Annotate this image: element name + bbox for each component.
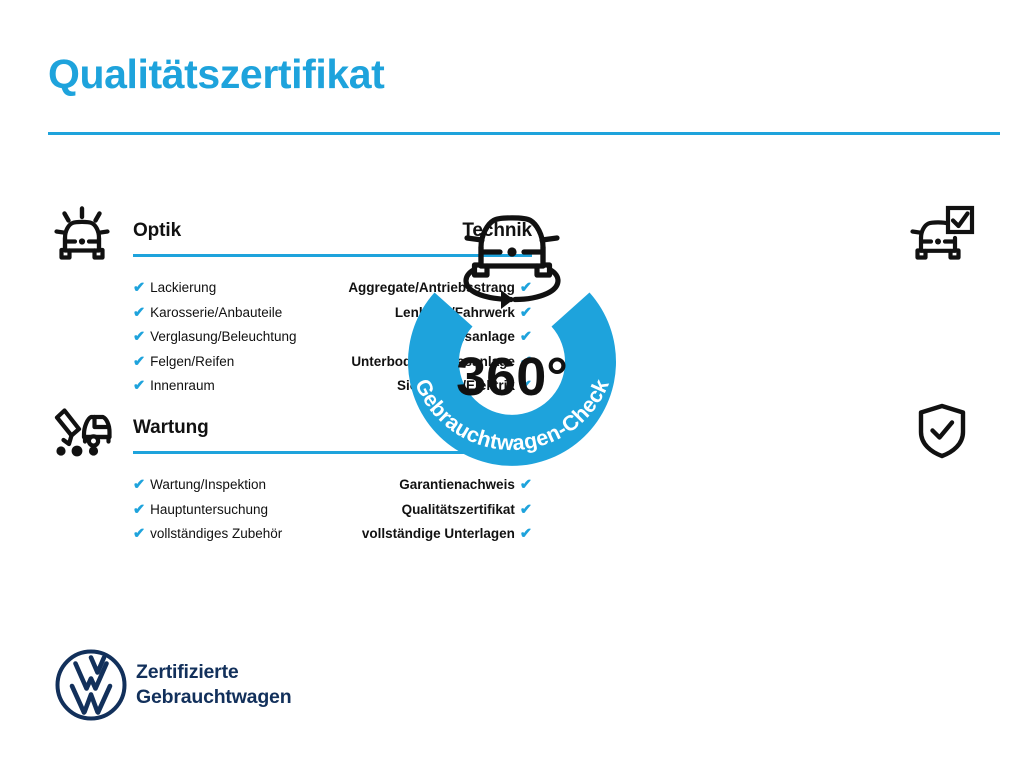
check-icon: ✔	[133, 305, 145, 321]
vw-wordmark-line1: Zertifizierte	[136, 660, 291, 685]
section-heading-optik: Optik	[133, 220, 181, 242]
list-item-label: Karosserie/Anbauteile	[150, 305, 282, 320]
checklist-optik: ✔Lackierung ✔Karosserie/Anbauteile ✔Verg…	[133, 276, 297, 399]
list-item: Qualitätszertifikat✔	[284, 498, 532, 523]
list-item-label: Hauptuntersuchung	[150, 502, 268, 517]
check-icon: ✔	[133, 329, 145, 345]
check-icon: ✔	[133, 378, 145, 394]
list-item: ✔vollständiges Zubehör	[133, 522, 282, 547]
check-icon: ✔	[133, 477, 145, 493]
check-icon: ✔	[520, 526, 532, 542]
checklist-garantie: Garantienachweis✔ Qualitätszertifikat✔ v…	[284, 473, 532, 547]
vw-logo	[54, 648, 128, 722]
car-checkbox-icon	[904, 202, 980, 266]
check-icon: ✔	[133, 280, 145, 296]
list-item: ✔Hauptuntersuchung	[133, 498, 282, 523]
list-item-label: vollständige Unterlagen	[362, 526, 515, 541]
page-title: Qualitätszertifikat	[48, 52, 384, 97]
shield-check-icon	[904, 399, 980, 463]
list-item-label: Felgen/Reifen	[150, 354, 234, 369]
list-item: ✔Felgen/Reifen	[133, 350, 297, 375]
list-item-label: Lackierung	[150, 280, 216, 295]
list-item: ✔Lackierung	[133, 276, 297, 301]
certificate-page: Qualitätszertifikat	[0, 0, 1024, 768]
list-item: ✔Wartung/Inspektion	[133, 473, 282, 498]
check-icon: ✔	[133, 502, 145, 518]
car-pen-service-icon	[44, 399, 120, 463]
list-item-label: Wartung/Inspektion	[150, 477, 266, 492]
list-item-label: vollständiges Zubehör	[150, 526, 282, 541]
list-item-label: Innenraum	[150, 378, 215, 393]
vw-wordmark-line2: Gebrauchtwagen	[136, 685, 291, 710]
list-item: vollständige Unterlagen✔	[284, 522, 532, 547]
list-item: ✔Verglasung/Beleuchtung	[133, 325, 297, 350]
list-item: ✔Innenraum	[133, 374, 297, 399]
list-item-label: Qualitätszertifikat	[402, 502, 515, 517]
badge-center-text: 360°	[456, 347, 568, 407]
vw-wordmark: Zertifizierte Gebrauchtwagen	[136, 660, 291, 710]
checklist-wartung: ✔Wartung/Inspektion ✔Hauptuntersuchung ✔…	[133, 473, 282, 547]
list-item-label: Verglasung/Beleuchtung	[150, 329, 296, 344]
check-icon: ✔	[133, 354, 145, 370]
title-divider	[48, 132, 1000, 135]
check-icon: ✔	[133, 526, 145, 542]
check-icon: ✔	[520, 502, 532, 518]
car-rotation-icon	[466, 218, 558, 309]
badge-360-gebrauchtwagen-check: 360° Gebrauchtwagen-Check	[381, 199, 643, 484]
car-shine-icon	[44, 202, 120, 266]
section-heading-wartung: Wartung	[133, 417, 209, 439]
list-item: ✔Karosserie/Anbauteile	[133, 301, 297, 326]
